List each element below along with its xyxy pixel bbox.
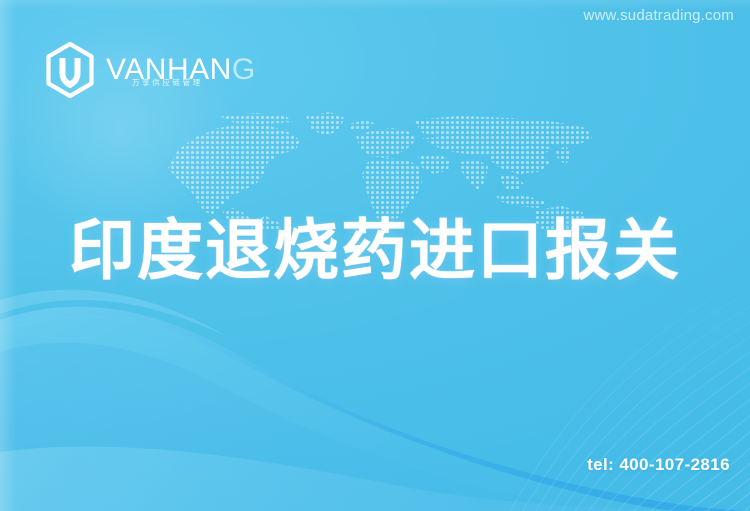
telephone-text[interactable]: tel: 400-107-2816 [587,455,730,475]
promo-banner: VANHANG 万享供应链管理 www.sudatrading.com 印度退烧… [0,0,750,511]
site-url[interactable]: www.sudatrading.com [583,7,734,24]
brand-logo[interactable]: VANHANG 万享供应链管理 [44,42,256,98]
logo-wordmark: VANHANG 万享供应链管理 [106,55,256,85]
hexagon-u-logo-icon [44,42,96,98]
page-title: 印度退烧药进口报关 [0,218,750,284]
logo-subtitle: 万享供应链管理 [132,79,203,87]
logo-wordmark-accent: G [232,53,256,86]
